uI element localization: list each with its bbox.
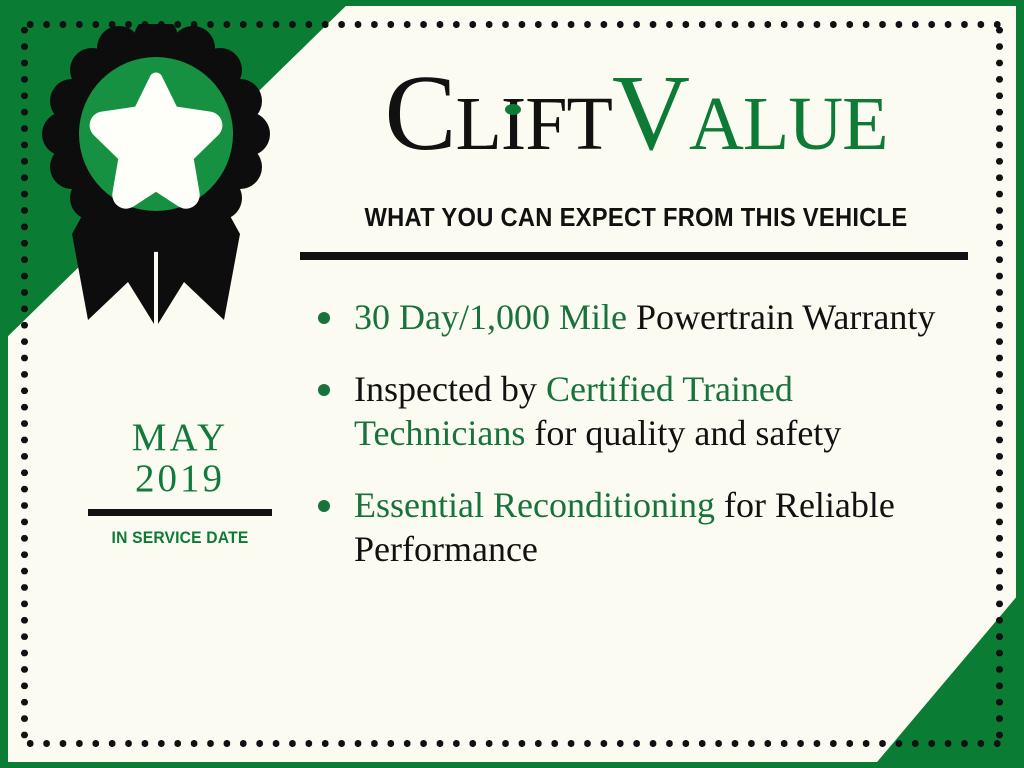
in-service-date-block: MAY 2019 IN SERVICE DATE <box>60 418 300 548</box>
logo-clift-c: C <box>384 54 455 173</box>
service-date-caption: IN SERVICE DATE <box>70 528 291 548</box>
brand-logo: CLIFTVALUE <box>296 44 976 184</box>
bullet-dot-icon <box>318 500 330 512</box>
service-date-divider-rule <box>88 509 272 516</box>
award-rosette-icon <box>42 24 270 340</box>
subtitle-divider-rule <box>300 252 968 260</box>
service-date-month: MAY <box>60 418 300 459</box>
list-item: Inspected by Certified Trained Technicia… <box>310 368 970 456</box>
logo-value-v: V <box>612 54 689 173</box>
logo-clift-l: L <box>455 82 500 166</box>
clift-value-card: CLIFTVALUE WHAT YOU CAN EXPECT FROM THIS… <box>0 0 1024 768</box>
logo-clift-ft: FT <box>525 82 612 166</box>
benefits-list: 30 Day/1,000 Mile Powertrain Warranty In… <box>310 296 970 572</box>
logo-value-alue: ALUE <box>689 82 888 166</box>
logo-clift-i-letter: I <box>501 82 525 166</box>
subtitle-heading: WHAT YOU CAN EXPECT FROM THIS VEHICLE <box>324 204 949 233</box>
list-item: Essential Reconditioning for Reliable Pe… <box>310 484 970 572</box>
list-item: 30 Day/1,000 Mile Powertrain Warranty <box>310 296 970 340</box>
logo-clift-i: I <box>501 86 525 162</box>
bullet-2-trail: for quality and safety <box>525 413 841 453</box>
bullet-3-highlight: Essential Reconditioning <box>354 485 715 525</box>
logo-i-dot-accent <box>505 104 521 115</box>
bullet-1-highlight: 30 Day/1,000 Mile <box>354 297 627 337</box>
bullet-2-lead: Inspected by <box>354 369 546 409</box>
bullet-dot-icon <box>318 312 330 324</box>
bullet-dot-icon <box>318 384 330 396</box>
service-date-year: 2019 <box>60 459 300 500</box>
bullet-1-text: Powertrain Warranty <box>627 297 935 337</box>
